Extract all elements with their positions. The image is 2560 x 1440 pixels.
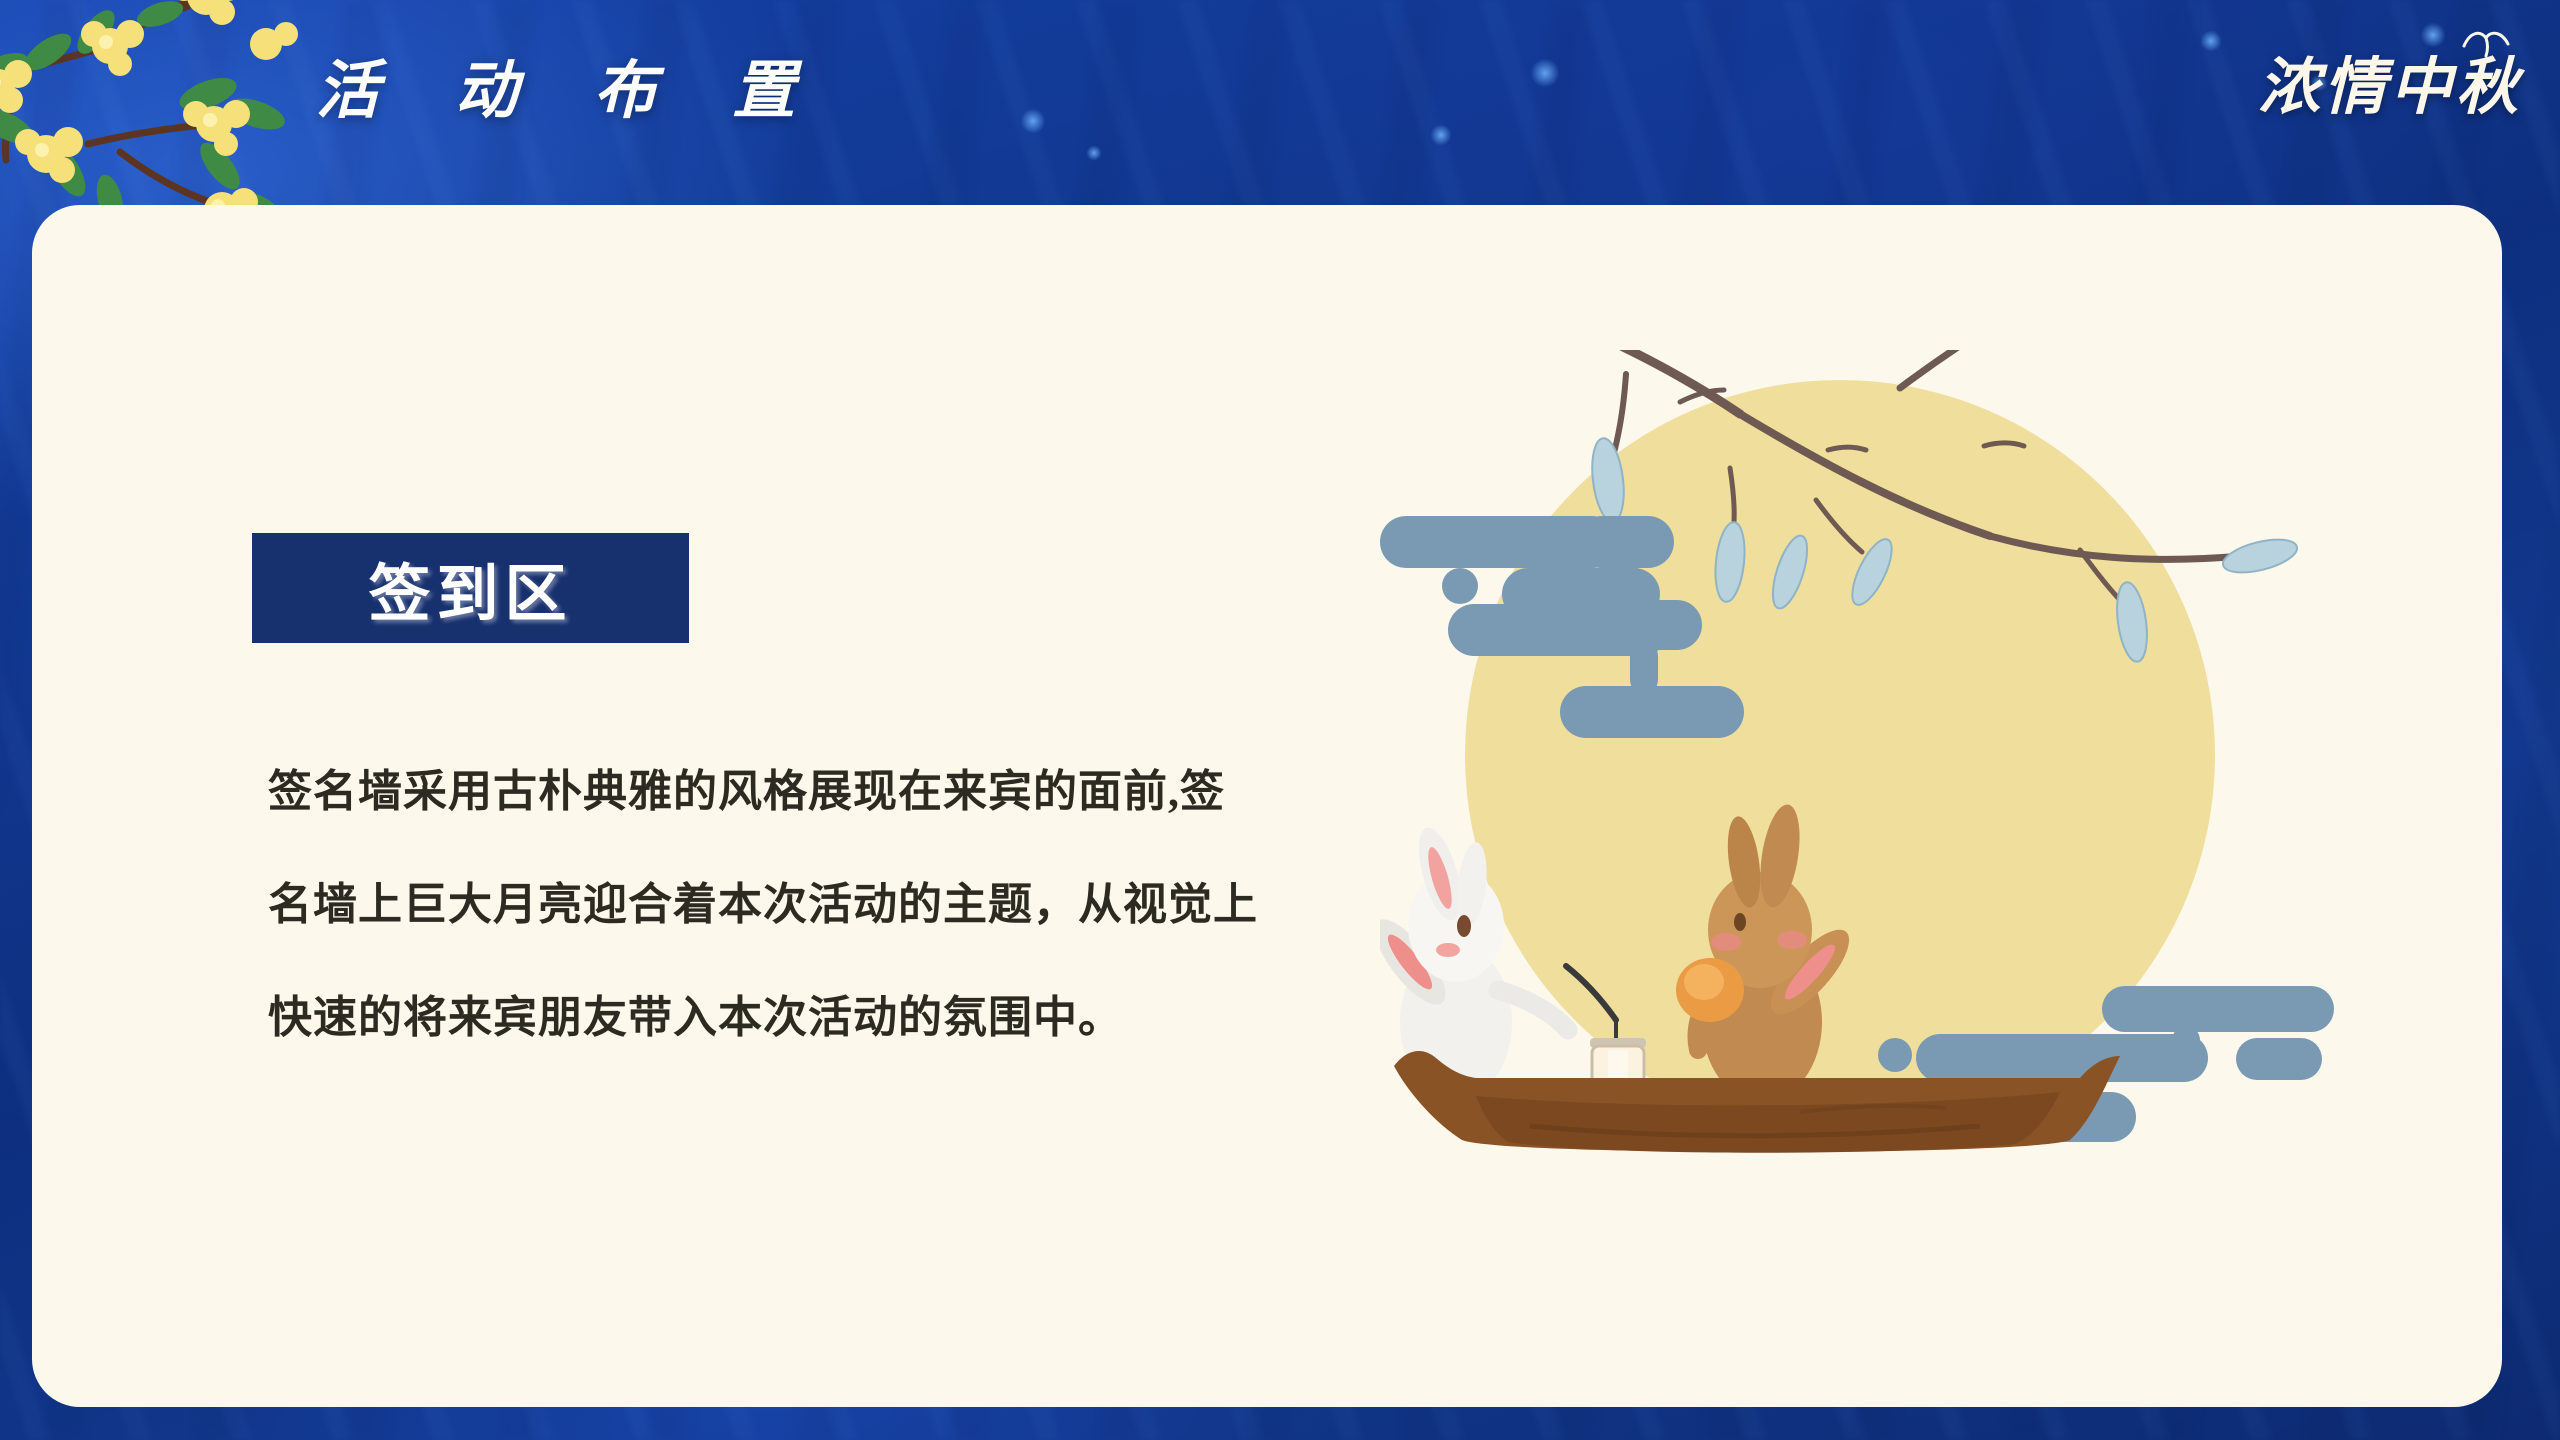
slide-root: 活 动 布 置 浓情中秋	[0, 0, 2560, 1440]
bokeh-dot	[1430, 124, 1452, 146]
body-paragraph: 签名墙采用古朴典雅的风格展现在来宾的面前,签 名墙上巨大月亮迎合着本次活动的主题…	[268, 735, 1388, 1074]
paragraph-line: 名墙上巨大月亮迎合着本次活动的主题，从视觉上	[268, 848, 1388, 961]
section-heading-label: 签到区	[368, 543, 572, 633]
bokeh-dot	[1020, 108, 1046, 134]
bokeh-dot	[2200, 30, 2222, 52]
butterfly-flourish-icon	[2458, 26, 2518, 58]
full-moon-icon	[1465, 380, 2215, 1130]
mid-autumn-illustration	[1380, 350, 2440, 1170]
section-heading-chip: 签到区	[252, 533, 689, 643]
bokeh-dot	[1086, 145, 1102, 161]
page-title: 活 动 布 置	[316, 40, 825, 131]
paragraph-line: 快速的将来宾朋友带入本次活动的氛围中。	[268, 961, 1388, 1074]
paragraph-line: 签名墙采用古朴典雅的风格展现在来宾的面前,签	[268, 735, 1388, 848]
bokeh-dot	[1530, 58, 1560, 88]
